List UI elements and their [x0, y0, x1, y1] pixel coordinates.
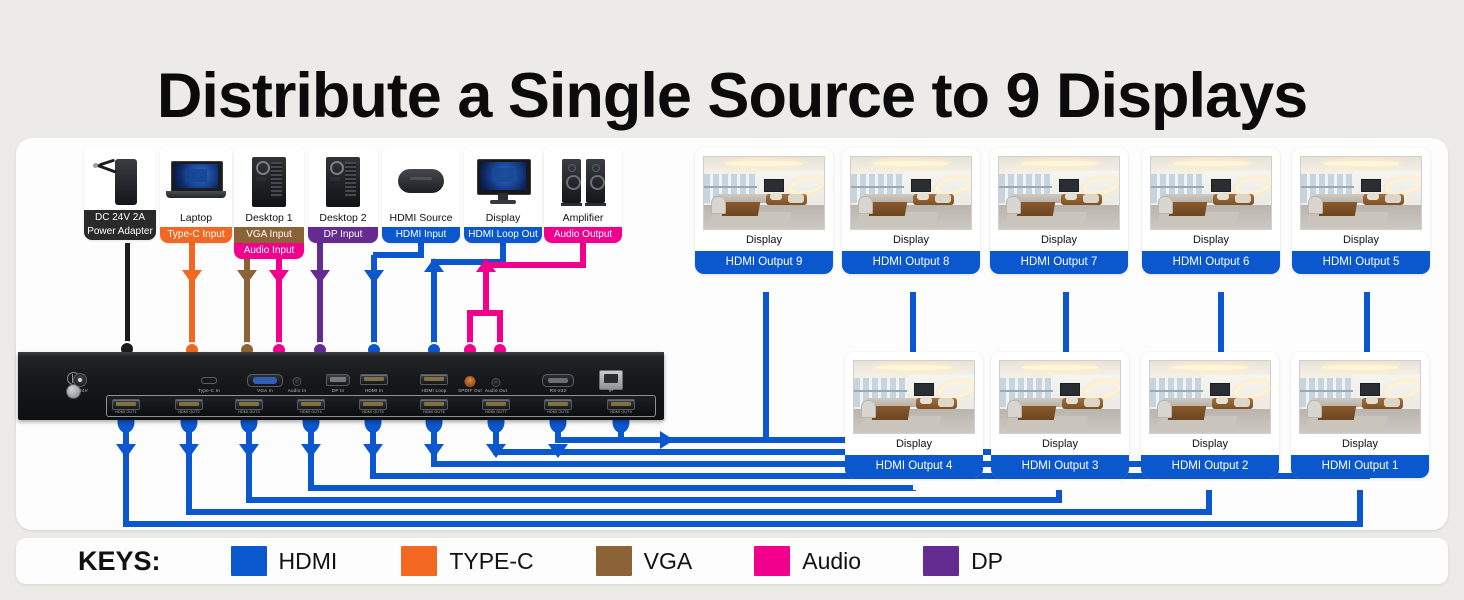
legend-swatch [596, 546, 632, 576]
port-label: HDMI In [365, 388, 383, 393]
port-label: RS-232 [550, 388, 567, 393]
legend-bar: KEYS: HDMITYPE-CVGAAudioDP [16, 538, 1448, 584]
room-ceilglow [1021, 161, 1098, 165]
source-card-desktop-2[interactable]: Desktop 2DP Input [308, 146, 378, 243]
room-cush2 [1234, 398, 1250, 407]
source-card-power-adapter[interactable]: DC 24V 2APower Adapter [84, 146, 156, 240]
port-hdmi-out-8[interactable] [544, 399, 572, 410]
display-thumbnail [850, 156, 972, 230]
source-badge: HDMI Input [382, 227, 460, 243]
room-cush2 [788, 194, 804, 203]
port-hdmi-loop[interactable] [420, 374, 448, 385]
display-card[interactable]: DisplayHDMI Output 3 [991, 352, 1129, 478]
room-cush2 [1385, 194, 1401, 203]
display-caption: Display [1292, 230, 1430, 251]
room-cush [1216, 397, 1228, 404]
output-port-label: HDMI OUT7 [485, 410, 507, 414]
port-label: DP In [332, 388, 344, 393]
port-label: Audio Out [485, 388, 507, 393]
arrow-audio-in [269, 270, 289, 284]
cable-out-2-v [186, 426, 192, 512]
desktop-tower-icon-part [271, 162, 282, 198]
room-cush [770, 193, 782, 200]
port-hdmi-out-5[interactable] [359, 399, 387, 410]
power-adapter-icon-part [115, 159, 137, 205]
port-hdmi-in[interactable] [360, 374, 388, 385]
source-caption: Desktop 2 [308, 210, 378, 227]
display-output-badge: HDMI Output 6 [1142, 251, 1280, 274]
display-caption: Display [1141, 434, 1279, 455]
port-label: HDMI Loop [421, 388, 446, 393]
room-cush2 [1084, 398, 1100, 407]
port-hdmi-out-3[interactable] [235, 399, 263, 410]
room-chair [1308, 196, 1323, 214]
diagram-canvas: Distribute a Single Source to 9 Displays… [0, 0, 1464, 600]
display-output-badge: HDMI Output 5 [1292, 251, 1430, 274]
room-chair [1158, 196, 1173, 214]
legend-title: KEYS: [78, 546, 161, 577]
room-chair [1157, 400, 1172, 418]
monitor-icon-part [492, 168, 514, 182]
desktop-tower-icon-part [330, 161, 344, 175]
cable-out-3-v [246, 426, 252, 500]
speakers-icon-part [585, 203, 606, 206]
room-chair [1006, 196, 1021, 214]
source-card-desktop-1[interactable]: Desktop 1VGA InputAudio Input [234, 146, 304, 259]
display-caption: Display [842, 230, 980, 251]
cable-audio-out-h [483, 262, 583, 268]
display-output-badge: HDMI Output 2 [1141, 455, 1279, 478]
room-cush2 [1384, 398, 1400, 407]
source-thumbnail [164, 152, 228, 210]
power-adapter-icon-part [95, 163, 117, 173]
port-label: Type-C In [198, 388, 220, 393]
output-port-label: HDMI OUT3 [238, 410, 260, 414]
cable-out-4-up [910, 490, 916, 491]
office-room-thumbnail [1151, 157, 1271, 229]
media-box-icon-part [410, 177, 432, 180]
speakers-icon-part [590, 175, 605, 190]
desktop-tower-icon-part [256, 161, 270, 175]
cable-out-3-up [1056, 490, 1062, 503]
display-thumbnail [703, 156, 825, 230]
cable-out-6-v [431, 426, 437, 464]
room-tv [1360, 383, 1380, 396]
office-room-thumbnail [1300, 361, 1420, 433]
room-chair [861, 400, 876, 418]
room-cush [1367, 193, 1379, 200]
display-caption: Display [990, 230, 1128, 251]
room-tableleg [872, 406, 911, 420]
cable-out-4-h [308, 485, 913, 491]
output-port-label: HDMI OUT4 [300, 410, 322, 414]
legend-items: HDMITYPE-CVGAAudioDP [161, 546, 1003, 576]
room-cush2 [1235, 194, 1251, 203]
display-output-badge: HDMI Output 3 [991, 455, 1129, 478]
media-box-icon [390, 153, 452, 209]
source-badge: Audio Input [234, 243, 304, 259]
desktop-tower-icon-part [345, 162, 356, 198]
room-cush [1066, 397, 1078, 404]
display-caption: Display [1291, 434, 1429, 455]
output-port-label: HDMI OUT6 [423, 410, 445, 414]
room-tv [1059, 179, 1079, 192]
output-port-label: HDMI OUT2 [178, 410, 200, 414]
source-thumbnail [548, 152, 618, 210]
source-card-laptop[interactable]: LaptopType-C Input [160, 146, 232, 243]
legend-label: TYPE-C [449, 548, 533, 575]
room-winmull [854, 390, 907, 392]
cable-out-1-h [123, 521, 1360, 527]
page-title: Distribute a Single Source to 9 Displays [0, 60, 1464, 132]
room-tv [1211, 179, 1231, 192]
room-tv [914, 383, 934, 396]
source-caption: Desktop 1 [234, 210, 304, 227]
port-label: VGA In [257, 388, 273, 393]
room-tableleg [1168, 406, 1207, 420]
port-hdmi-out-6[interactable] [420, 399, 448, 410]
cable-dp [317, 240, 323, 350]
source-badge: Type-C Input [160, 227, 232, 243]
source-caption: Display [464, 210, 542, 227]
port-label: SPDIF Out [458, 388, 482, 393]
port-hdmi-out-9[interactable] [607, 399, 635, 410]
arrow-hdmi-loop [424, 258, 444, 272]
room-winmull [1150, 390, 1203, 392]
source-card-hdmi-source[interactable]: HDMI SourceHDMI Input [382, 146, 460, 243]
room-cush [1217, 193, 1229, 200]
room-tableleg [1318, 406, 1357, 420]
legend-label: Audio [802, 548, 861, 575]
monitor-icon-part [498, 193, 508, 200]
room-chair [711, 196, 726, 214]
display-card[interactable]: DisplayHDMI Output 2 [1141, 352, 1279, 478]
room-ceilglow [876, 365, 953, 369]
cable-out-2-up [1206, 490, 1212, 515]
display-card[interactable]: DisplayHDMI Output 4 [845, 352, 983, 478]
display-card[interactable]: DisplayHDMI Output 5 [1292, 148, 1430, 274]
source-thumbnail [312, 152, 374, 210]
port-label: IP [609, 388, 614, 393]
room-cush [917, 193, 929, 200]
office-room-thumbnail [851, 157, 971, 229]
port-audio-in[interactable] [293, 377, 302, 386]
office-room-thumbnail [1150, 361, 1270, 433]
power-adapter-icon-part [93, 163, 98, 168]
cable-audio-out-v [483, 270, 489, 316]
cable-out-2-h [186, 509, 1209, 515]
room-winmull [1301, 186, 1354, 188]
source-thumbnail [468, 152, 538, 210]
laptop-icon-part [185, 169, 207, 182]
port-label: Audio In [288, 388, 306, 393]
source-badge: HDMI Loop Out [464, 227, 542, 243]
source-thumbnail [88, 152, 152, 210]
room-tv [764, 179, 784, 192]
source-badge-line1: DC 24V 2A [84, 211, 156, 225]
room-winmull [999, 186, 1052, 188]
legend-label: DP [971, 548, 1003, 575]
display-card[interactable]: DisplayHDMI Output 7 [990, 148, 1128, 274]
legend-item-type-c: TYPE-C [401, 546, 533, 576]
office-room-thumbnail [854, 361, 974, 433]
source-thumbnail [238, 152, 300, 210]
cable-audio-out-stub [580, 240, 586, 268]
room-ceilglow [1172, 365, 1249, 369]
legend-label: HDMI [279, 548, 338, 575]
desktop-tower-icon-part [256, 177, 266, 181]
cable-typec [189, 240, 195, 350]
room-winmull [1151, 186, 1204, 188]
display-output-badge: HDMI Output 8 [842, 251, 980, 274]
room-winmull [1300, 390, 1353, 392]
media-box-icon-part [398, 169, 444, 193]
room-tableleg [869, 202, 908, 216]
port-hdmi-out-7[interactable] [482, 399, 510, 410]
device-top-edge [18, 352, 664, 357]
speakers-icon-part [568, 164, 576, 172]
display-thumbnail [999, 360, 1121, 434]
output-port-label: HDMI OUT5 [362, 410, 384, 414]
cable-out-1-v [123, 426, 129, 524]
legend-item-audio: Audio [754, 546, 861, 576]
source-badge: Audio Output [544, 227, 622, 243]
speakers-icon-part [561, 203, 582, 206]
display-thumbnail [1300, 156, 1422, 230]
port-dp-in[interactable] [326, 374, 350, 386]
monitor-icon [472, 153, 534, 209]
display-thumbnail [998, 156, 1120, 230]
room-chair [858, 196, 873, 214]
power-adapter-icon [89, 153, 151, 209]
laptop-icon-part [166, 191, 226, 198]
speakers-icon-part [592, 164, 600, 172]
room-ceilglow [1323, 161, 1400, 165]
output-port-label: HDMI OUT9 [610, 410, 632, 414]
cable-out-9-h [618, 437, 766, 443]
office-room-thumbnail [999, 157, 1119, 229]
room-ceilglow [1322, 365, 1399, 369]
display-caption: Display [695, 230, 833, 251]
source-badge: DC 24V 2APower Adapter [84, 210, 156, 240]
room-cush2 [1083, 194, 1099, 203]
source-badge: DP Input [308, 227, 378, 243]
cable-out-4-v [308, 426, 314, 488]
output-port-label: HDMI OUT8 [547, 410, 569, 414]
legend-item-hdmi: HDMI [231, 546, 338, 576]
display-caption: Display [991, 434, 1129, 455]
room-ceilglow [726, 161, 803, 165]
legend-swatch [754, 546, 790, 576]
arrow-typec [182, 270, 202, 284]
output-port-label: HDMI OUT1 [115, 410, 137, 414]
display-output-badge: HDMI Output 1 [1291, 455, 1429, 478]
speakers-icon-part [566, 175, 581, 190]
port-hdmi-out-1[interactable] [112, 399, 140, 410]
desktop-tower-icon [312, 153, 374, 209]
room-chair [1307, 400, 1322, 418]
port-rs-232[interactable] [542, 374, 574, 387]
legend-swatch [401, 546, 437, 576]
port-spdif-out[interactable] [465, 376, 476, 387]
display-caption: Display [845, 434, 983, 455]
room-winmull [851, 186, 904, 188]
display-card[interactable]: DisplayHDMI Output 8 [842, 148, 980, 274]
legend-item-vga: VGA [596, 546, 693, 576]
office-room-thumbnail [704, 157, 824, 229]
arrow-out-9-right [660, 431, 674, 449]
display-thumbnail [1149, 360, 1271, 434]
display-thumbnail [853, 360, 975, 434]
room-tv [911, 179, 931, 192]
room-cush2 [935, 194, 951, 203]
display-thumbnail [1299, 360, 1421, 434]
arrow-dp [310, 270, 330, 284]
cable-hdmi-in-h [373, 252, 424, 258]
hdmi-splitter-device: DC24VType-C InVGA InAudio InDP InHDMI In… [18, 352, 664, 420]
speakers-icon [552, 153, 614, 209]
legend-item-dp: DP [923, 546, 1003, 576]
room-chair [1007, 400, 1022, 418]
desktop-tower-icon-part [330, 177, 340, 181]
arrow-hdmi-in [364, 270, 384, 284]
room-ceilglow [1022, 365, 1099, 369]
cable-out-5-v [370, 426, 376, 476]
monitor-icon-part [490, 200, 516, 204]
laptop-icon [165, 153, 227, 209]
port-type-c-in[interactable] [201, 377, 217, 384]
display-output-badge: HDMI Output 4 [845, 455, 983, 478]
office-room-thumbnail [1301, 157, 1421, 229]
display-card[interactable]: DisplayHDMI Output 1 [1291, 352, 1429, 478]
cable-power [125, 243, 130, 350]
source-badge: VGA Input [234, 227, 304, 243]
room-tableleg [1017, 202, 1056, 216]
room-tableleg [1018, 406, 1057, 420]
source-caption: Laptop [160, 210, 232, 227]
room-cush [1366, 397, 1378, 404]
source-thumbnail [386, 152, 456, 210]
room-tv [1361, 179, 1381, 192]
room-ceilglow [873, 161, 950, 165]
room-cush2 [938, 398, 954, 407]
arrow-vga [237, 270, 257, 284]
port-audio-out[interactable] [492, 378, 501, 387]
display-card[interactable]: DisplayHDMI Output 9 [695, 148, 833, 274]
desktop-tower-icon [238, 153, 300, 209]
source-caption: HDMI Source [382, 210, 460, 227]
display-caption: Display [1142, 230, 1280, 251]
port-hdmi-out-2[interactable] [175, 399, 203, 410]
source-card-display-loop[interactable]: DisplayHDMI Loop Out [464, 146, 542, 243]
cable-out-3-h [246, 497, 1059, 503]
office-room-thumbnail [1000, 361, 1120, 433]
display-output-badge: HDMI Output 7 [990, 251, 1128, 274]
room-ceilglow [1173, 161, 1250, 165]
port-vga-in[interactable] [247, 374, 283, 387]
room-tableleg [1169, 202, 1208, 216]
room-tableleg [722, 202, 761, 216]
room-tv [1210, 383, 1230, 396]
source-badge-line2: Power Adapter [84, 225, 156, 239]
room-tv [1060, 383, 1080, 396]
room-winmull [704, 186, 757, 188]
port-dc24v[interactable] [73, 373, 87, 387]
room-cush [1065, 193, 1077, 200]
room-winmull [1000, 390, 1053, 392]
room-tableleg [1319, 202, 1358, 216]
port-ip[interactable] [599, 370, 623, 390]
legend-label: VGA [644, 548, 693, 575]
display-card[interactable]: DisplayHDMI Output 6 [1142, 148, 1280, 274]
display-output-badge: HDMI Output 9 [695, 251, 833, 274]
room-cush [920, 397, 932, 404]
source-caption: Amplifier [544, 210, 622, 227]
port-hdmi-out-4[interactable] [297, 399, 325, 410]
cable-out-9-up [763, 292, 769, 443]
port-label: DC24V [72, 388, 88, 393]
display-thumbnail [1150, 156, 1272, 230]
cable-hdmi-loop-v [431, 270, 437, 350]
cable-out-1-up [1357, 490, 1363, 527]
source-card-amplifier[interactable]: AmplifierAudio Output [544, 146, 622, 243]
legend-swatch [923, 546, 959, 576]
legend-swatch [231, 546, 267, 576]
